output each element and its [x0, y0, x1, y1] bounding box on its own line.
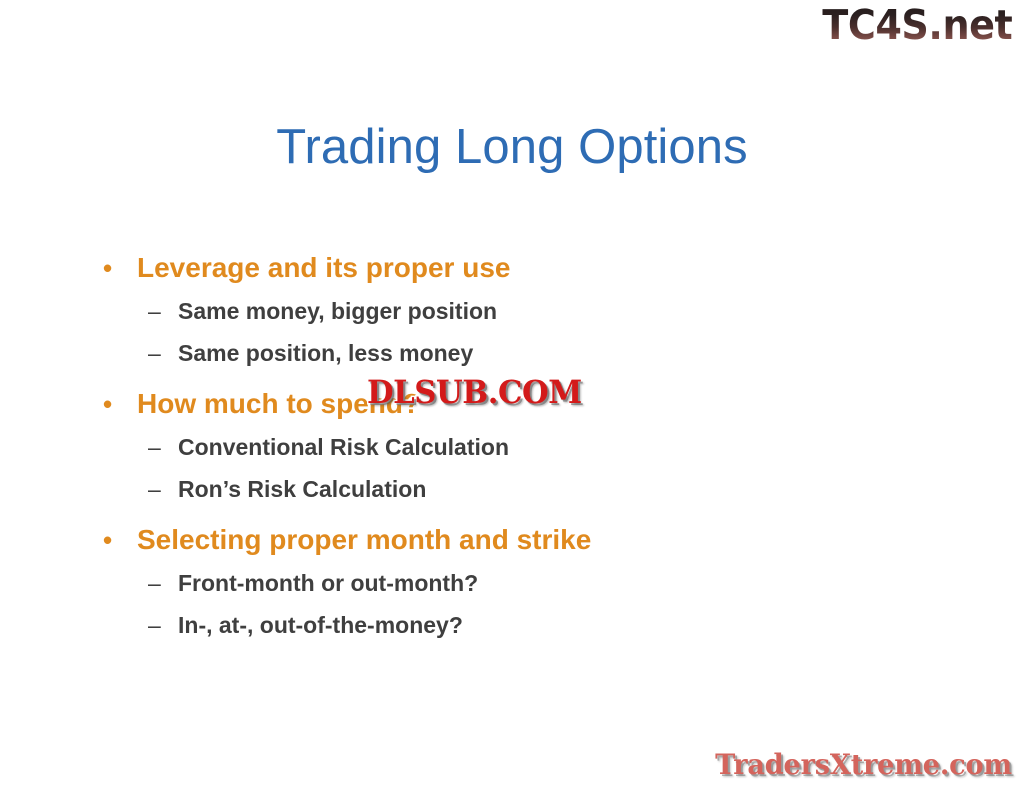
bullet-level2: – In-, at-, out-of-the-money?	[96, 604, 796, 646]
bullet-group: • Leverage and its proper use – Same mon…	[96, 247, 796, 374]
bullet-level2-label: Same money, bigger position	[178, 298, 497, 324]
bullet-level1-label: Selecting proper month and strike	[137, 524, 591, 555]
dash-marker-icon: –	[148, 290, 161, 332]
bullet-level2-label: Front-month or out-month?	[178, 570, 478, 596]
bullet-level2-label: Ron’s Risk Calculation	[178, 476, 426, 502]
dash-marker-icon: –	[148, 604, 161, 646]
bullet-level2: – Same position, less money	[96, 332, 796, 374]
dash-marker-icon: –	[148, 426, 161, 468]
bullet-level1-label: Leverage and its proper use	[137, 252, 510, 283]
overlay-watermark: DLSUB.COM	[367, 373, 582, 411]
bullet-level2-label: In-, at-, out-of-the-money?	[178, 612, 463, 638]
bullet-dot-icon: •	[103, 247, 112, 289]
bullet-dot-icon: •	[103, 519, 112, 561]
dash-marker-icon: –	[148, 468, 161, 510]
bullet-level2-label: Same position, less money	[178, 340, 473, 366]
dash-marker-icon: –	[148, 332, 161, 374]
bullet-level2: – Conventional Risk Calculation	[96, 426, 796, 468]
footer-watermark: TradersXtreme.com	[715, 748, 1012, 782]
bullet-level2: – Same money, bigger position	[96, 290, 796, 332]
bullet-dot-icon: •	[103, 383, 112, 425]
bullet-level1: • Selecting proper month and strike	[96, 519, 796, 561]
bullet-level2-label: Conventional Risk Calculation	[178, 434, 509, 460]
bullet-group: • Selecting proper month and strike – Fr…	[96, 519, 796, 646]
page-title: Trading Long Options	[0, 118, 1024, 176]
brand-logo: TC4S.net	[822, 2, 1012, 48]
bullet-list: • Leverage and its proper use – Same mon…	[96, 247, 796, 655]
slide-canvas: TC4S.net Trading Long Options • Leverage…	[0, 0, 1024, 791]
dash-marker-icon: –	[148, 562, 161, 604]
bullet-level2: – Front-month or out-month?	[96, 562, 796, 604]
bullet-level2: – Ron’s Risk Calculation	[96, 468, 796, 510]
bullet-level1: • Leverage and its proper use	[96, 247, 796, 289]
